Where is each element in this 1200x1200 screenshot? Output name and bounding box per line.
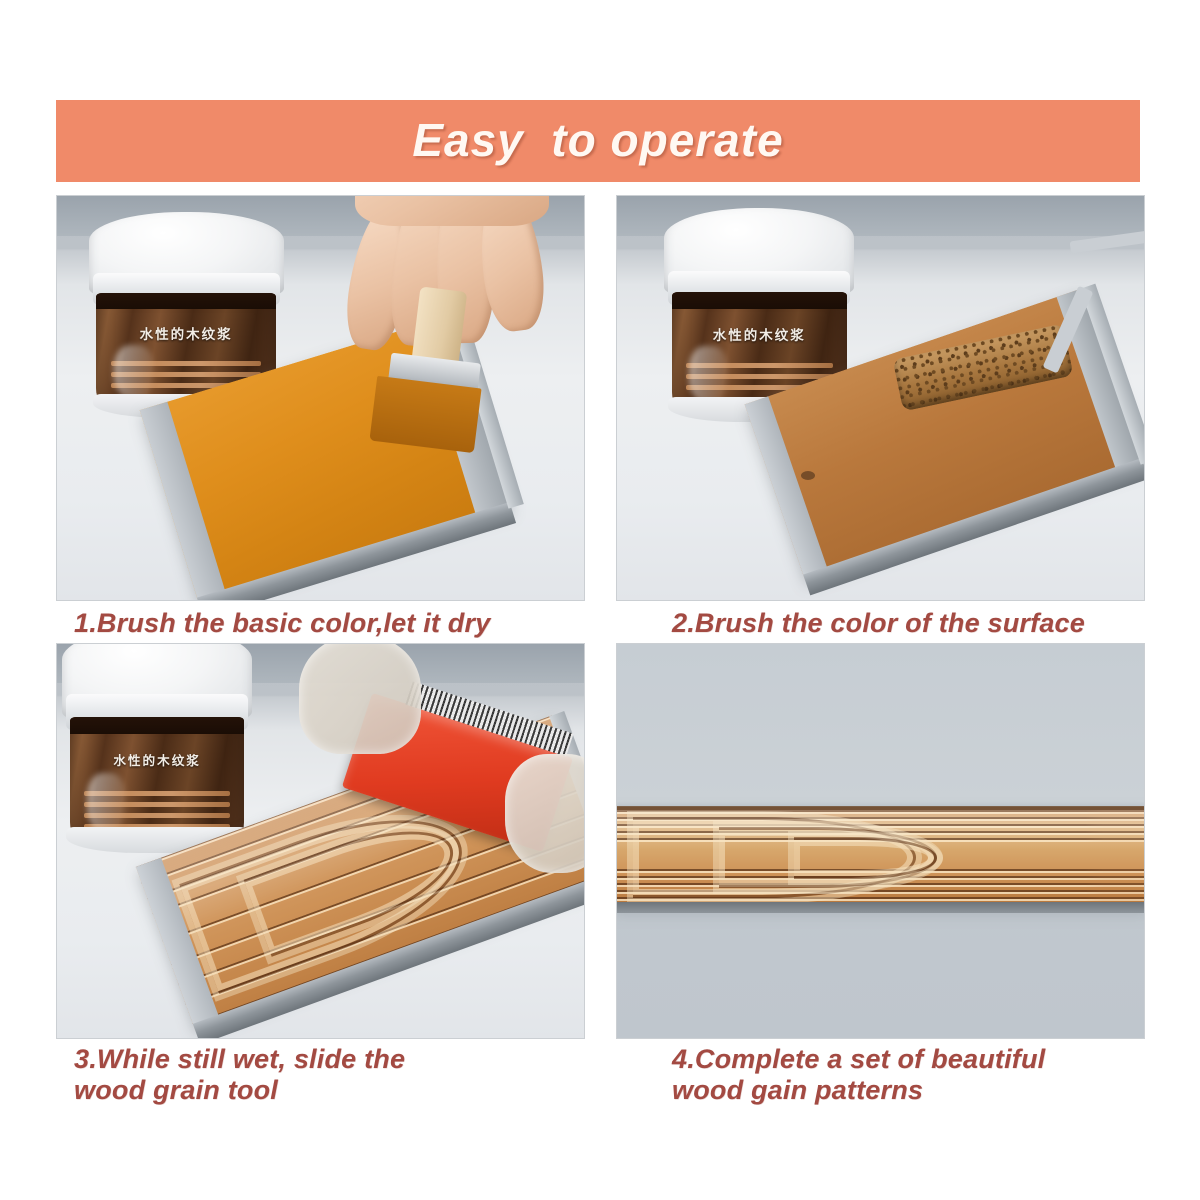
jar-highlight [689, 346, 727, 402]
paint-drop [801, 471, 815, 480]
jar-highlight [114, 345, 153, 399]
jar-highlight [87, 773, 125, 832]
page-title: Easy to operate [56, 113, 1140, 167]
step-4-caption: 4.Complete a set of beautiful wood gain … [672, 1044, 1045, 1106]
paint-brush-bristles [370, 376, 482, 453]
photo-brush-base-color: 水性的木纹浆 [57, 196, 584, 600]
step-4-photo [617, 644, 1144, 1038]
paint-jar: 水性的木纹浆 [62, 644, 252, 849]
step-1-photo: 水性的木纹浆 [57, 196, 584, 600]
jar-body: 水性的木纹浆 [70, 717, 245, 845]
jar-label-text: 水性的木纹浆 [682, 324, 836, 344]
step-1-caption: 1.Brush the basic color,let it dry [74, 608, 490, 639]
board-front-edge [617, 902, 1144, 913]
step-2-caption: 2.Brush the color of the surface [672, 608, 1085, 639]
step-2-photo: 水性的木纹浆 [617, 196, 1144, 600]
finished-board [617, 806, 1144, 905]
photo-finished-wood-grain [617, 644, 1144, 1038]
jar-label-text: 水性的木纹浆 [80, 750, 234, 769]
gloved-hand-left [299, 644, 420, 754]
finished-wood-grain [617, 806, 1144, 905]
step-3-photo: 水性的木纹浆 [57, 644, 584, 1038]
photo-slide-wood-grain-tool: 水性的木纹浆 [57, 644, 584, 1038]
photo-brush-surface-color: 水性的木纹浆 [617, 196, 1144, 600]
grain-gloss [617, 806, 1144, 850]
header-banner: Easy to operate [56, 100, 1140, 182]
step-3-caption: 3.While still wet, slide the wood grain … [74, 1044, 405, 1106]
gloved-hand-right [505, 754, 584, 872]
jar-label-text: 水性的木纹浆 [107, 323, 265, 343]
